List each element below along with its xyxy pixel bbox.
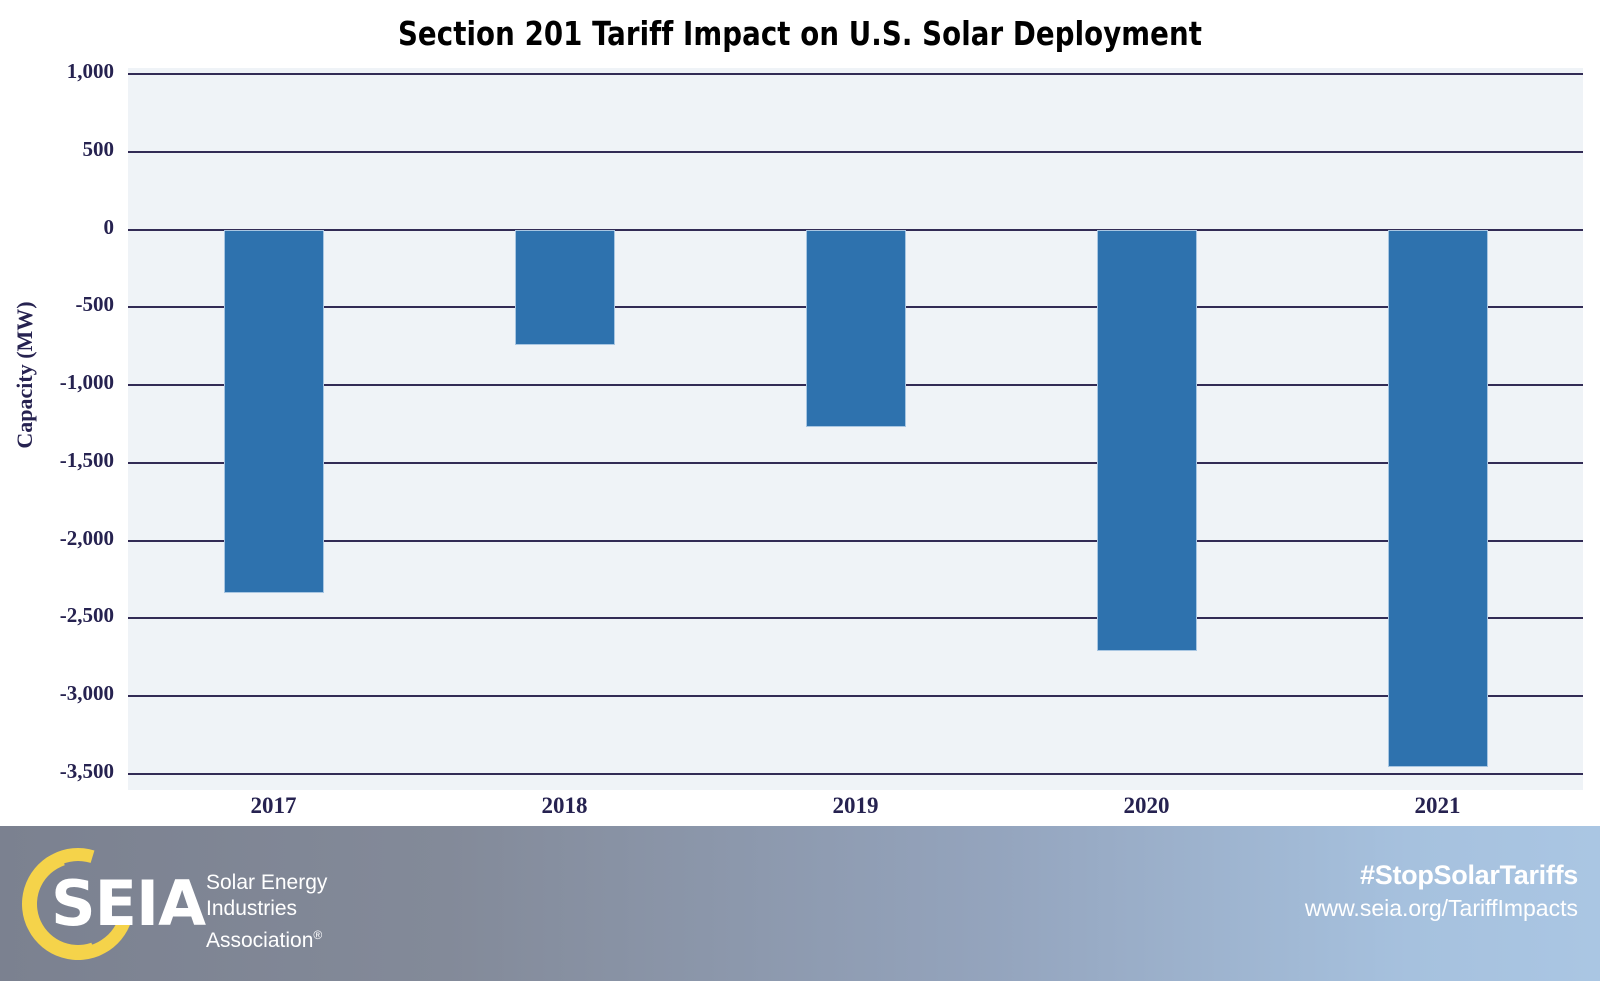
x-axis-tick-labels: 20172018201920202021 — [128, 786, 1583, 830]
seia-logo: SEIA Solar Energy Industries Association… — [18, 840, 358, 968]
campaign-hashtag: #StopSolarTariffs — [1305, 858, 1578, 892]
y-axis-tick-label: -1,500 — [60, 448, 114, 473]
gridline — [128, 151, 1583, 153]
y-axis-tick-label: -2,000 — [60, 526, 114, 551]
y-axis-tick-label: -500 — [76, 292, 115, 317]
bar-2019[interactable] — [806, 230, 906, 428]
registered-mark: ® — [313, 928, 322, 942]
footer-campaign: #StopSolarTariffs www.seia.org/TariffImp… — [1305, 858, 1578, 924]
plot-inner — [128, 74, 1583, 774]
y-axis-tick-label: -3,500 — [60, 759, 114, 784]
logo-subtext-line-3-text: Association — [206, 929, 313, 952]
bar-2018[interactable] — [515, 230, 615, 346]
logo-subtext: Solar Energy Industries Association® — [206, 870, 327, 954]
chart-page: Section 201 Tariff Impact on U.S. Solar … — [0, 0, 1600, 981]
gridline — [128, 462, 1583, 464]
y-axis-tick-label: 500 — [83, 137, 115, 162]
gridline — [128, 773, 1583, 775]
bar-2021[interactable] — [1388, 230, 1488, 767]
logo-subtext-line-3: Association® — [206, 922, 327, 954]
page-title: Section 201 Tariff Impact on U.S. Solar … — [56, 14, 1544, 53]
bar-2020[interactable] — [1097, 230, 1197, 652]
y-axis-tick-labels: 1,0005000-500-1,000-1,500-2,000-2,500-3,… — [0, 68, 118, 790]
x-axis-tick-label-2021: 2021 — [1292, 786, 1583, 830]
footer-banner: SEIA Solar Energy Industries Association… — [0, 826, 1600, 981]
gridline — [128, 617, 1583, 619]
y-axis-tick-label: -1,000 — [60, 370, 114, 395]
logo-wordmark: SEIA — [51, 868, 205, 940]
plot-area — [128, 68, 1583, 790]
gridline — [128, 695, 1583, 697]
y-axis-tick-label: 1,000 — [67, 59, 114, 84]
x-axis-tick-label-2020: 2020 — [1001, 786, 1292, 830]
x-axis-tick-label-2017: 2017 — [128, 786, 419, 830]
campaign-url[interactable]: www.seia.org/TariffImpacts — [1305, 892, 1578, 924]
x-axis-tick-label-2019: 2019 — [710, 786, 1001, 830]
gridline — [128, 73, 1583, 75]
y-axis-tick-label: -2,500 — [60, 603, 114, 628]
logo-subtext-line-1: Solar Energy — [206, 870, 327, 896]
logo-subtext-line-2: Industries — [206, 896, 327, 922]
y-axis-tick-label: 0 — [104, 215, 115, 240]
x-axis-tick-label-2018: 2018 — [419, 786, 710, 830]
gridline — [128, 540, 1583, 542]
bar-2017[interactable] — [224, 230, 324, 593]
y-axis-tick-label: -3,000 — [60, 681, 114, 706]
